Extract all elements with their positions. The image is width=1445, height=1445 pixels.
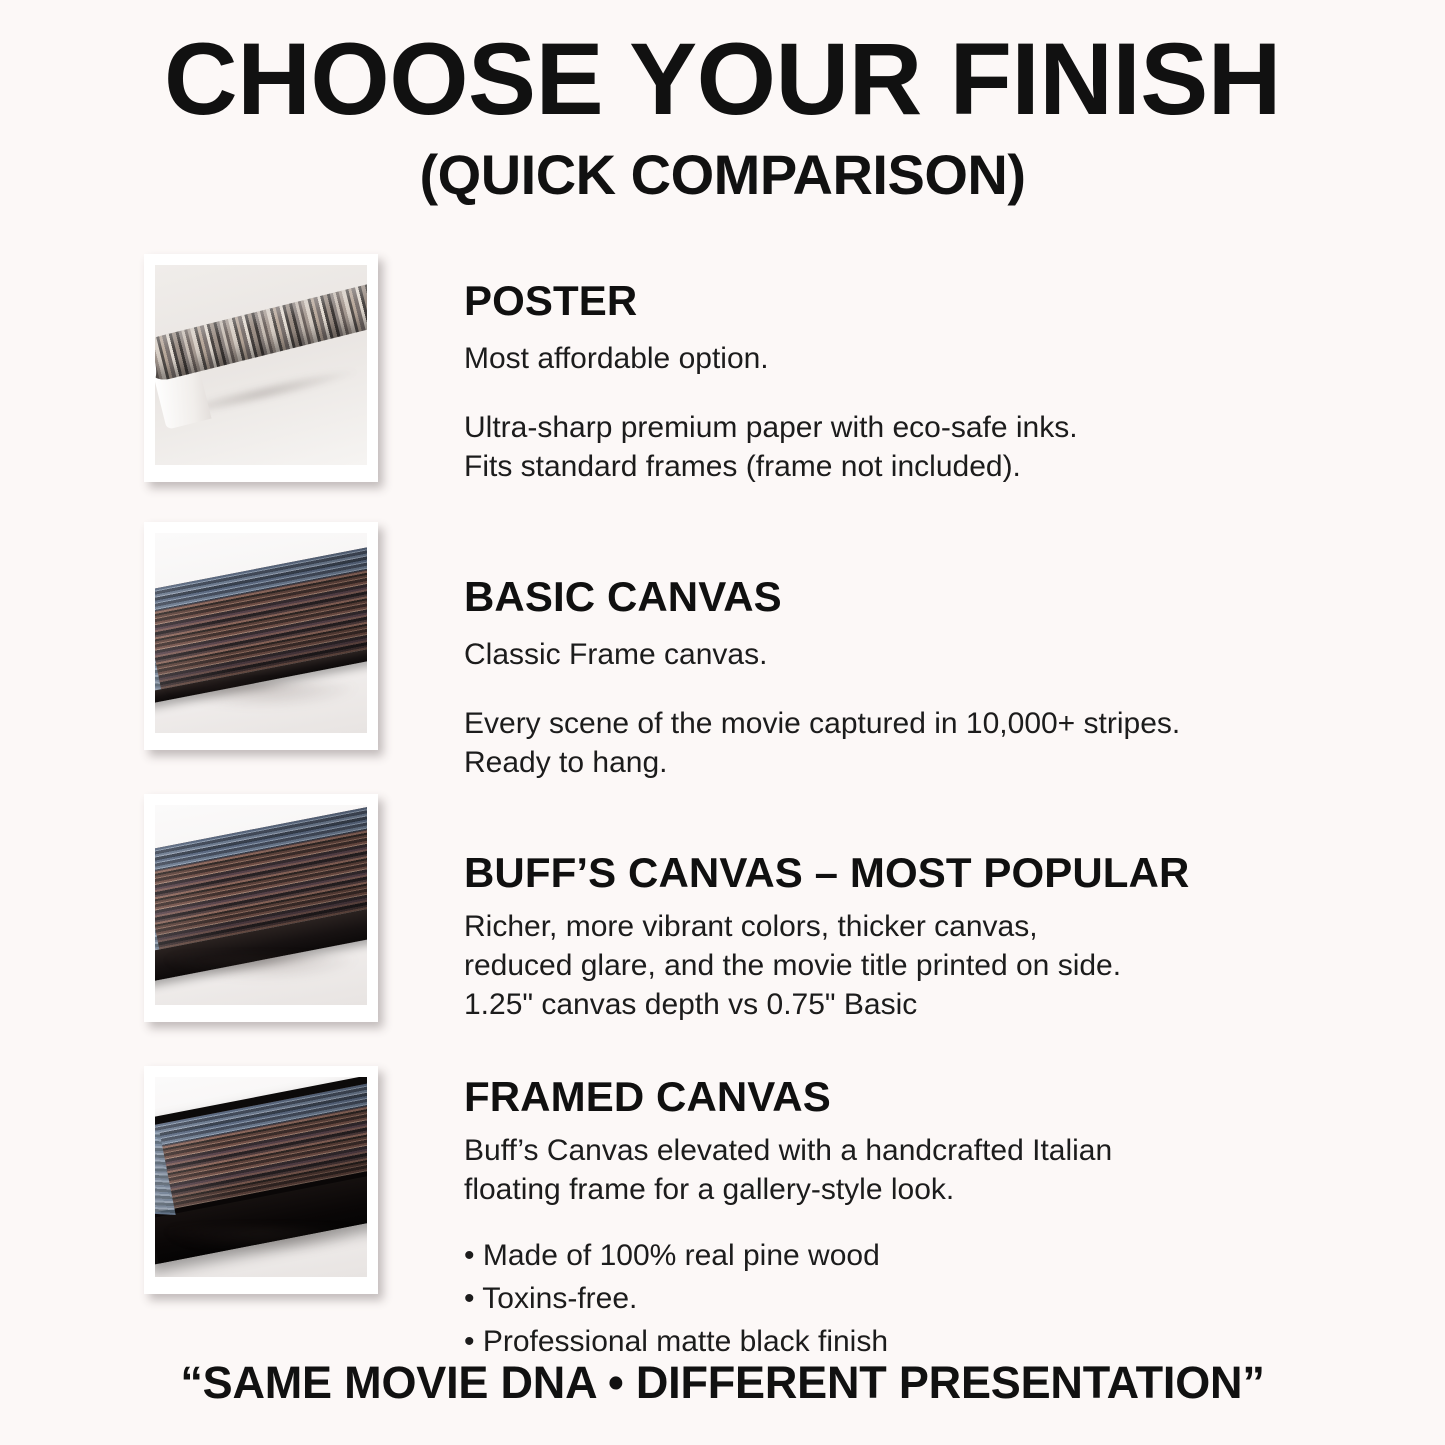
framed-canvas-image xyxy=(155,1077,367,1277)
rolled-poster-image xyxy=(155,265,367,465)
section-title: BASIC CANVAS xyxy=(464,574,1394,619)
section-body: Every scene of the movie captured in 10,… xyxy=(464,704,1394,782)
row-framed-canvas: FRAMED CANVAS Buff’s Canvas elevated wit… xyxy=(0,1064,1445,1336)
section-lead: Most affordable option. xyxy=(464,339,1394,378)
canvas-left-side xyxy=(155,856,161,956)
section-body: Ultra-sharp premium paper with eco-safe … xyxy=(464,408,1394,486)
body-line: Ultra-sharp premium paper with eco-safe … xyxy=(464,408,1394,447)
body-line: Fits standard frames (frame not included… xyxy=(464,447,1394,486)
body-line: reduced glare, and the movie title print… xyxy=(464,946,1394,985)
body-line: Buff’s Canvas elevated with a handcrafte… xyxy=(464,1131,1394,1170)
thumbnail-card-framed-canvas[interactable] xyxy=(144,1066,378,1294)
buffs-canvas-image xyxy=(155,805,367,1005)
thumbnail-card-basic-canvas[interactable] xyxy=(144,522,378,750)
poster-roll-end-cap xyxy=(155,339,160,386)
section-title: BUFF’S CANVAS – MOST POPULAR xyxy=(464,850,1394,895)
row-buffs-canvas: BUFF’S CANVAS – MOST POPULAR Richer, mor… xyxy=(0,792,1445,1064)
canvas-left-side xyxy=(155,1129,176,1215)
body-line: Richer, more vibrant colors, thicker can… xyxy=(464,907,1394,946)
surface-reflection xyxy=(163,1227,358,1253)
section-lead: Classic Frame canvas. xyxy=(464,635,1394,674)
header: CHOOSE YOUR FINISH (QUICK COMPARISON) xyxy=(0,26,1445,205)
text-block-framed-canvas: FRAMED CANVAS Buff’s Canvas elevated wit… xyxy=(464,1074,1394,1363)
body-line: floating frame for a gallery-style look. xyxy=(464,1170,1394,1209)
text-block-basic-canvas: BASIC CANVAS Classic Frame canvas. Every… xyxy=(464,574,1394,782)
thumbnail-card-poster[interactable] xyxy=(144,254,378,482)
footer-tagline: “SAME MOVIE DNA • DIFFERENT PRESENTATION… xyxy=(0,1357,1445,1409)
row-basic-canvas: BASIC CANVAS Classic Frame canvas. Every… xyxy=(0,520,1445,792)
body-line: 1.25" canvas depth vs 0.75" Basic xyxy=(464,985,1394,1024)
canvas-left-side xyxy=(155,596,163,696)
body-line: Every scene of the movie captured in 10,… xyxy=(464,704,1394,743)
page-title: CHOOSE YOUR FINISH xyxy=(0,26,1445,132)
row-poster: POSTER Most affordable option. Ultra-sha… xyxy=(0,252,1445,518)
basic-canvas-image xyxy=(155,533,367,733)
thumbnail-card-buffs-canvas[interactable] xyxy=(144,794,378,1022)
list-item: • Made of 100% real pine wood xyxy=(464,1235,1394,1278)
surface-reflection xyxy=(163,955,358,981)
text-block-poster: POSTER Most affordable option. Ultra-sha… xyxy=(464,278,1394,486)
section-body: Buff’s Canvas elevated with a handcrafte… xyxy=(464,1131,1394,1209)
section-title: FRAMED CANVAS xyxy=(464,1074,1394,1119)
page-subtitle: (QUICK COMPARISON) xyxy=(0,146,1445,205)
list-item: • Toxins-free. xyxy=(464,1278,1394,1321)
section-body: Richer, more vibrant colors, thicker can… xyxy=(464,907,1394,1024)
feature-bullet-list: • Made of 100% real pine wood • Toxins-f… xyxy=(464,1235,1394,1363)
section-title: POSTER xyxy=(464,278,1394,323)
text-block-buffs-canvas: BUFF’S CANVAS – MOST POPULAR Richer, mor… xyxy=(464,850,1394,1024)
infographic-page: CHOOSE YOUR FINISH (QUICK COMPARISON) PO… xyxy=(0,0,1445,1445)
surface-reflection xyxy=(163,683,358,709)
body-line: Ready to hang. xyxy=(464,743,1394,782)
